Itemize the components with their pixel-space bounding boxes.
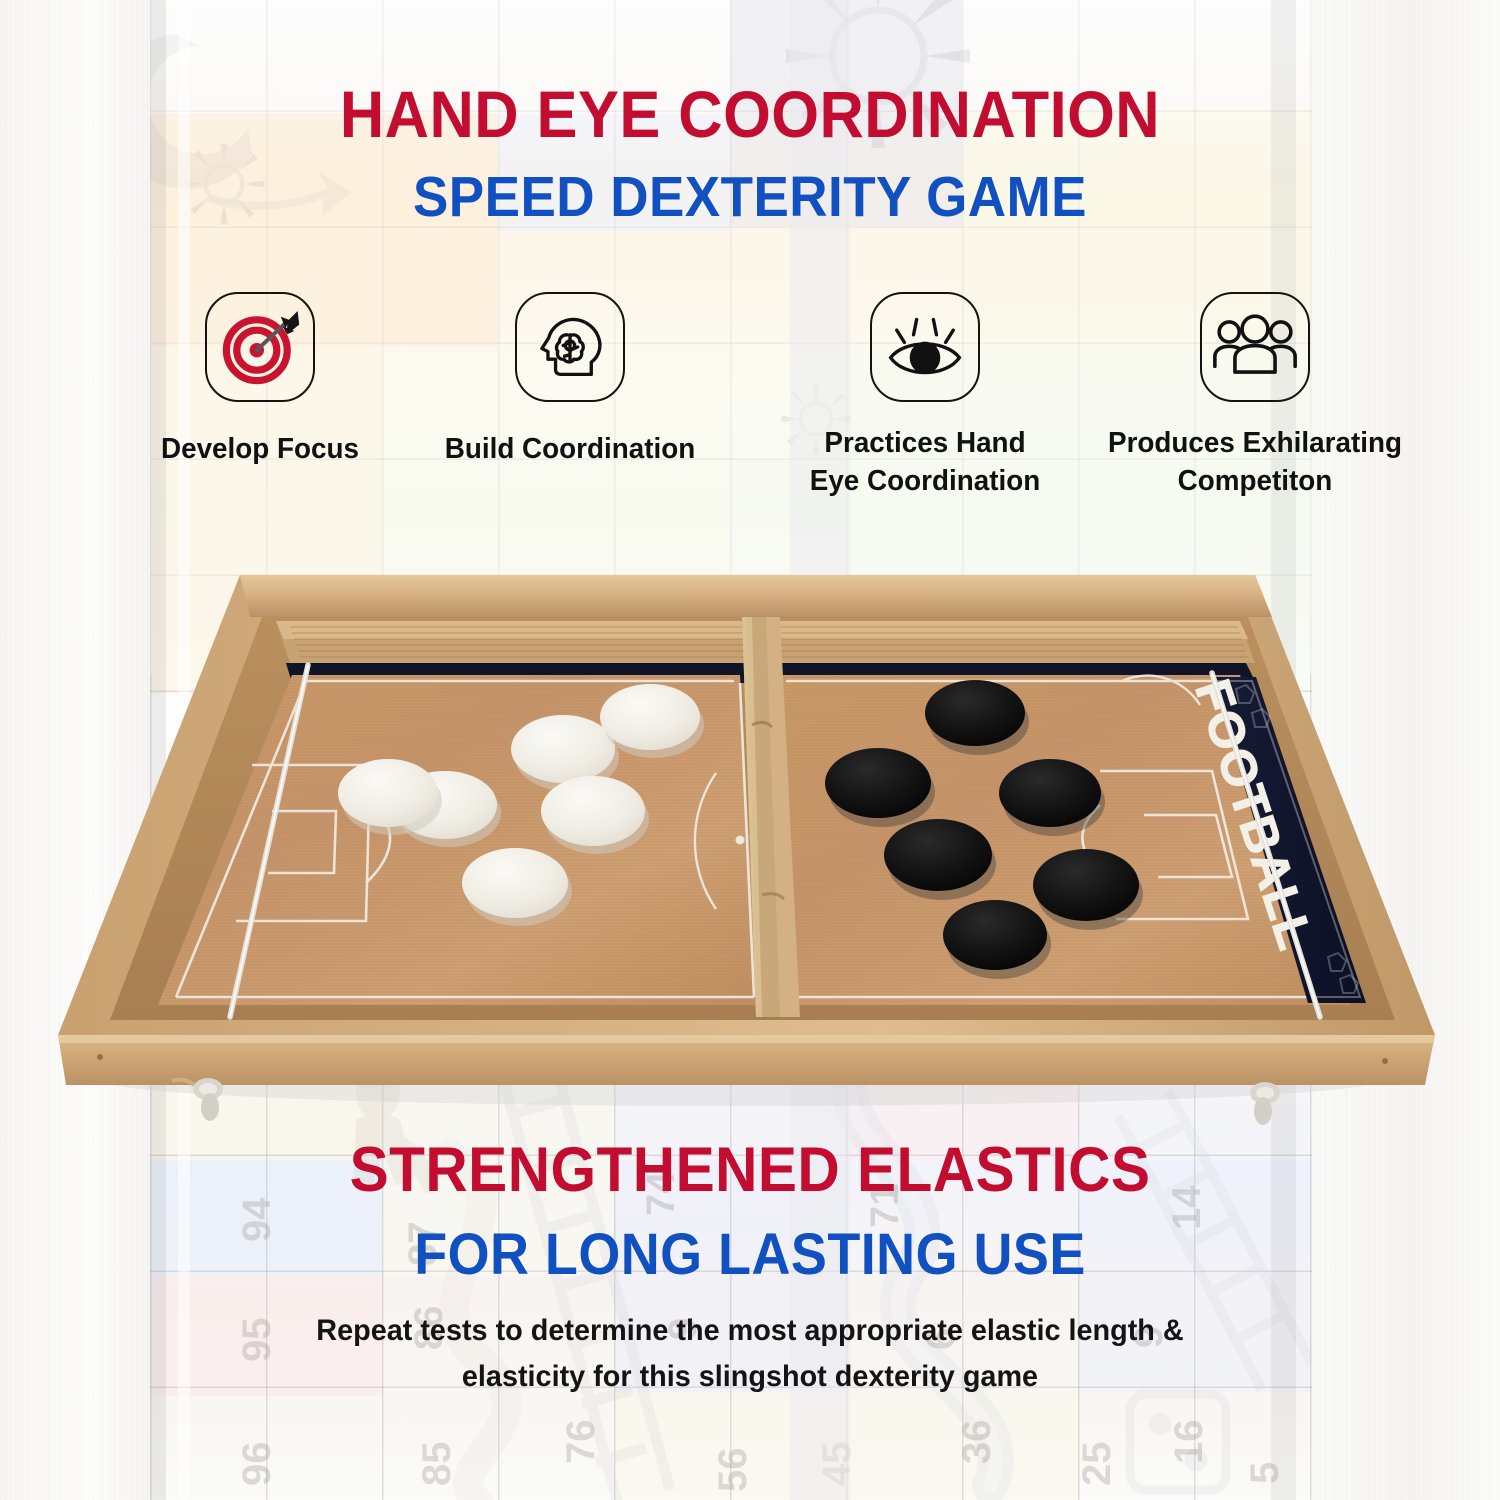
feature-icon-frame <box>205 292 315 402</box>
feature-label: Develop Focus <box>130 430 389 468</box>
feature-build-coordination: Build Coordination <box>410 292 730 468</box>
eye-icon <box>883 309 967 385</box>
feature-label: Build Coordination <box>416 430 723 468</box>
feature-icon-frame <box>515 292 625 402</box>
feature-label: Produces Exhilarating Competiton <box>1097 424 1414 500</box>
headline-secondary-top: SPEED DEXTERITY GAME <box>53 165 1448 229</box>
target-dartboard-icon <box>220 307 300 387</box>
headline-primary-bottom: STRENGTHENED ELASTICS <box>53 1135 1448 1205</box>
feature-icon-frame <box>1200 292 1310 402</box>
feature-produces-competition: Produces Exhilarating Competiton <box>1090 292 1420 500</box>
feature-practices-hand-eye: Practices Hand Eye Coordination <box>780 292 1070 500</box>
people-group-icon <box>1212 314 1298 380</box>
product-photo-slingshot-board: FOOTBALL <box>40 565 1440 1125</box>
feature-develop-focus: Develop Focus <box>125 292 395 468</box>
feature-label: Practices Hand Eye Coordination <box>786 424 1064 500</box>
headline-primary-top: HAND EYE COORDINATION <box>53 78 1448 150</box>
feature-icon-frame <box>870 292 980 402</box>
head-brain-gear-icon <box>532 309 608 385</box>
board-illustration: FOOTBALL <box>40 565 1440 1125</box>
headline-secondary-bottom: FOR LONG LASTING USE <box>53 1222 1448 1288</box>
subcopy-text: Repeat tests to determine the most appro… <box>270 1308 1230 1400</box>
feature-list: Develop Focus Build Coordination <box>90 292 1420 562</box>
